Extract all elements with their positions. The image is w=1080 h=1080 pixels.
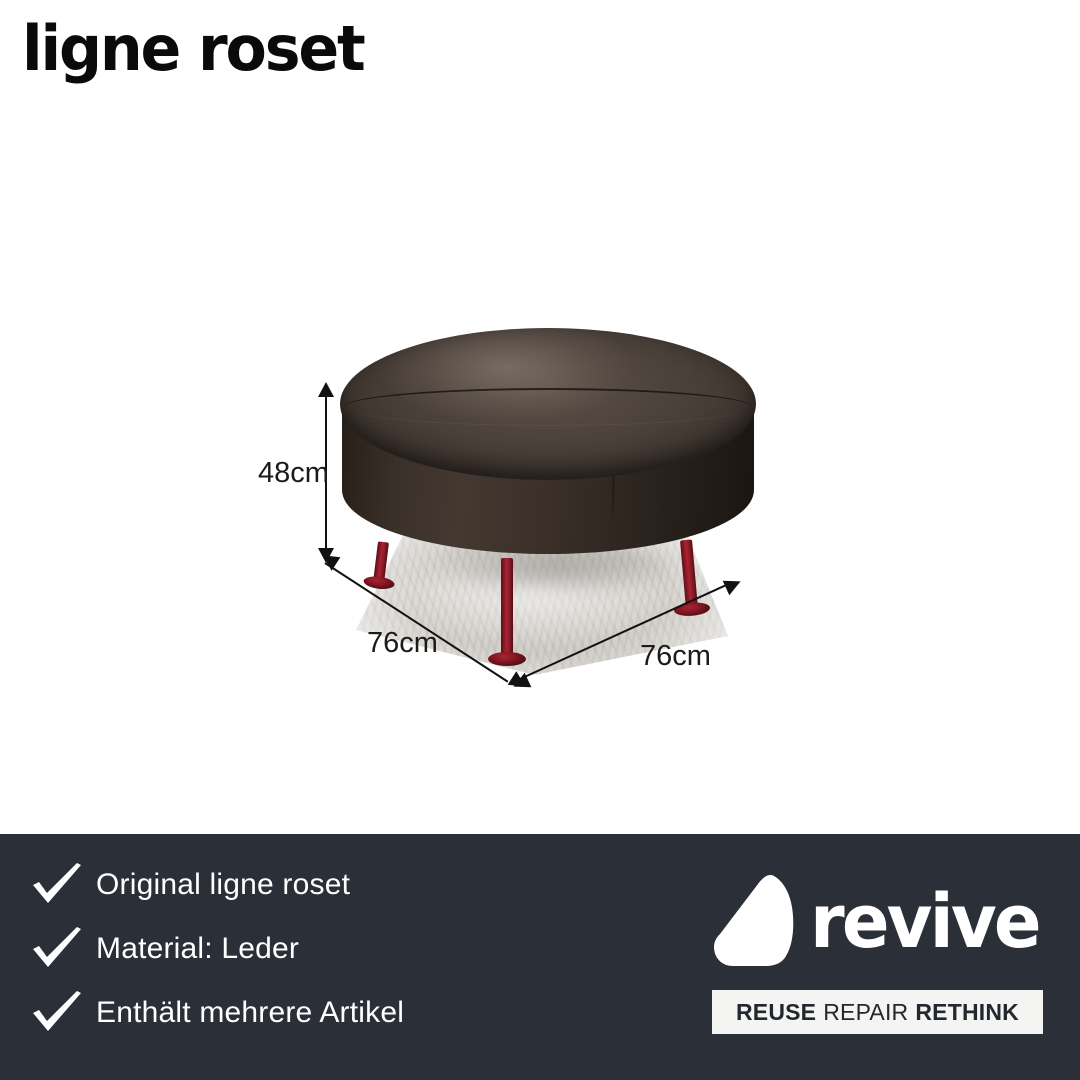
height-dimension-label: 48cm — [258, 457, 329, 490]
info-banner: Original ligne roset Material: Leder Ent… — [0, 834, 1080, 1080]
feature-item: Original ligne roset — [30, 862, 404, 908]
feature-item: Material: Leder — [30, 926, 404, 972]
check-icon — [30, 927, 84, 971]
feature-list: Original ligne roset Material: Leder Ent… — [30, 862, 404, 1036]
arrow-head-upright-icon — [723, 574, 744, 595]
ottoman-body — [340, 328, 756, 570]
leg-shaft — [501, 558, 513, 658]
revive-logo-block: revive REUSE REPAIR RETHINK — [712, 870, 1044, 1034]
revive-leaf-mark-icon — [712, 872, 804, 972]
width-dimension-label: 76cm — [640, 640, 711, 673]
tagline-word-repair: REPAIR — [823, 999, 908, 1026]
arrow-head-up-icon — [318, 382, 334, 397]
leg-foot — [488, 652, 526, 666]
check-icon — [30, 863, 84, 907]
feature-label: Original ligne roset — [96, 868, 350, 902]
revive-tagline-bar: REUSE REPAIR RETHINK — [712, 990, 1043, 1034]
tagline-word-reuse: REUSE — [736, 999, 816, 1026]
tagline-word-rethink: RETHINK — [915, 999, 1019, 1026]
brand-logo: ligne roset — [22, 18, 364, 80]
product-image: 48cm 76cm 76cm — [0, 110, 1080, 834]
ottoman-leg-front — [501, 558, 513, 658]
feature-label: Material: Leder — [96, 932, 299, 966]
feature-label: Enthält mehrere Artikel — [96, 996, 404, 1030]
ottoman-welt-seam — [344, 388, 752, 426]
check-icon — [30, 991, 84, 1035]
revive-lockup: revive — [712, 870, 1044, 974]
revive-wordmark: revive — [810, 885, 1039, 959]
feature-item: Enthält mehrere Artikel — [30, 990, 404, 1036]
depth-dimension-label: 76cm — [367, 627, 438, 660]
